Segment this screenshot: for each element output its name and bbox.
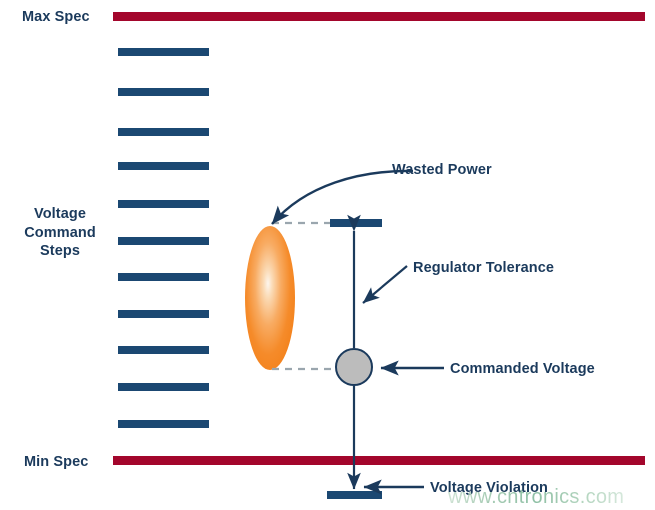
commanded-voltage-label: Commanded Voltage — [450, 360, 595, 379]
step-bar — [118, 200, 209, 208]
voltage-command-steps-line-2: Command — [12, 224, 108, 243]
max-spec-label: Max Spec — [22, 8, 90, 27]
voltage-command-steps-label: Voltage Command Steps — [12, 205, 108, 261]
step-bar — [118, 346, 209, 354]
step-bar — [118, 273, 209, 281]
upper-tolerance-bar — [330, 219, 382, 227]
site-watermark: www.cntronics.com — [448, 486, 624, 509]
step-bar — [118, 88, 209, 96]
voltage-command-steps-line-3: Steps — [12, 242, 108, 261]
step-bar — [118, 383, 209, 391]
min-spec-label: Min Spec — [24, 453, 88, 472]
step-bar — [118, 48, 209, 56]
step-bar — [118, 162, 209, 170]
diagram-canvas: Max Spec Min Spec Voltage Command Steps … — [0, 0, 655, 510]
voltage-command-steps-line-1: Voltage — [12, 205, 108, 224]
wasted-power-label: Wasted Power — [392, 161, 492, 180]
commanded-voltage-circle — [335, 348, 373, 386]
wasted-power-ellipse — [245, 226, 295, 370]
step-bar — [118, 237, 209, 245]
step-bar — [118, 310, 209, 318]
voltage-violation-bar — [327, 491, 382, 499]
min-spec-line — [113, 456, 645, 465]
step-bar — [118, 420, 209, 428]
max-spec-line — [113, 12, 645, 21]
step-bar — [118, 128, 209, 136]
regulator-tolerance-label: Regulator Tolerance — [413, 259, 554, 278]
